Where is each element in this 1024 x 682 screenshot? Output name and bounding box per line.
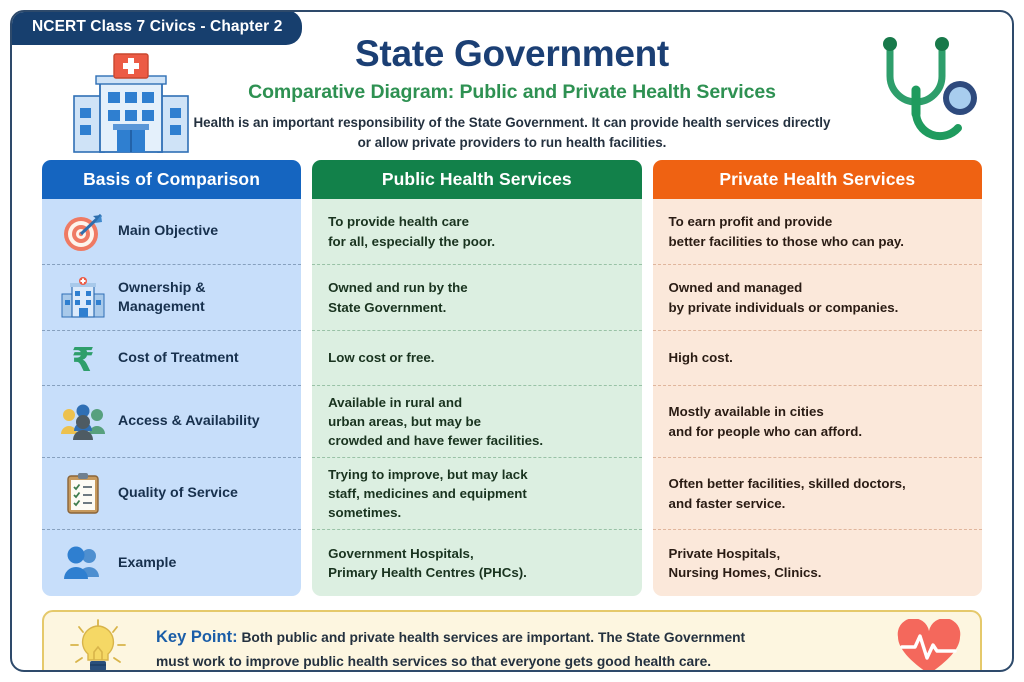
cell-line: Owned and run by the [328,278,468,297]
cell-line: and faster service. [669,494,906,513]
cell-line: Available in rural and [328,393,543,412]
hospital-building-icon [70,52,192,157]
cell-line: crowded and have fewer facilities. [328,431,543,450]
comparison-table: Basis of Comparison [42,160,982,596]
cell-line: urban areas, but may be [328,412,543,431]
table-row: Low cost or free. [312,331,641,386]
table-row: Ownership & Management [42,265,301,331]
cell-line: Private Hospitals, [669,544,822,563]
intro-line-1: Health is an important responsibility of… [152,113,872,133]
cell-line: Government Hospitals, [328,544,527,563]
target-icon [60,210,106,254]
key-point-text: Key Point: Both public and private healt… [148,624,882,672]
public-cell-text: To provide health care for all, especial… [328,212,495,251]
basis-label: Example [118,554,176,572]
poster: NCERT Class 7 Civics - Chapter 2 [0,0,1024,682]
cell-line: staff, medicines and equipment [328,484,528,503]
poster-frame: NCERT Class 7 Civics - Chapter 2 [10,10,1014,672]
table-row: Government Hospitals, Primary Health Cen… [312,530,641,596]
private-cell-text: Often better facilities, skilled doctors… [669,474,906,513]
public-cell-text: Trying to improve, but may lack staff, m… [328,465,528,523]
basis-label: Main Objective [118,222,218,240]
public-cell-text: Available in rural and urban areas, but … [328,393,543,451]
basis-label-line-2: Management [118,298,206,316]
cell-line: and for people who can afford. [669,422,863,441]
key-point-box: Key Point: Both public and private healt… [42,610,982,672]
key-point-line-1: Key Point: Both public and private healt… [156,624,882,651]
private-cell-text: Private Hospitals, Nursing Homes, Clinic… [669,544,822,583]
column-body-private: To earn profit and provide better facili… [653,199,982,596]
public-cell-text: Government Hospitals, Primary Health Cen… [328,544,527,583]
two-people-icon [60,541,106,585]
cell-line: better facilities to those who can pay. [669,232,904,251]
basis-label-line-1: Ownership & [118,279,206,297]
cell-line: Owned and managed [669,278,899,297]
heart-pulse-icon [896,619,962,672]
cell-line: Mostly available in cities [669,402,863,421]
cell-line: Often better facilities, skilled doctors… [669,474,906,493]
table-row: Mostly available in cities and for peopl… [653,386,982,458]
stethoscope-icon [868,30,978,150]
cell-line: To provide health care [328,212,495,231]
key-point-lead: Key Point: [156,628,238,646]
cell-line: High cost. [669,348,733,367]
table-row: Available in rural and urban areas, but … [312,386,641,458]
cell-line: Nursing Homes, Clinics. [669,563,822,582]
cell-line: To earn profit and provide [669,212,904,231]
column-basis: Basis of Comparison [42,160,301,596]
rupee-icon: ₹ [60,336,106,380]
public-cell-text: Low cost or free. [328,348,434,367]
cell-line: Primary Health Centres (PHCs). [328,563,527,582]
private-cell-text: Mostly available in cities and for peopl… [669,402,863,441]
table-row: To earn profit and provide better facili… [653,199,982,265]
intro-line-2: or allow private providers to run health… [152,133,872,153]
column-header-basis: Basis of Comparison [42,160,301,199]
private-cell-text: Owned and managed by private individuals… [669,278,899,317]
column-private: Private Health Services To earn profit a… [653,160,982,596]
column-header-public: Public Health Services [312,160,641,199]
basis-label: Access & Availability [118,412,260,430]
basis-label: Cost of Treatment [118,349,239,367]
table-row: Main Objective [42,199,301,265]
basis-label: Ownership & Management [118,279,206,316]
lightbulb-icon [62,618,134,672]
column-public: Public Health Services To provide health… [312,160,641,596]
table-row: Access & Availability [42,386,301,458]
public-cell-text: Owned and run by the State Government. [328,278,468,317]
cell-line: Low cost or free. [328,348,434,367]
basis-label: Quality of Service [118,484,238,502]
private-cell-text: High cost. [669,348,733,367]
column-body-basis: Main Objective [42,199,301,596]
private-cell-text: To earn profit and provide better facili… [669,212,904,251]
cell-line: State Government. [328,298,468,317]
hospital-icon [60,276,106,320]
column-body-public: To provide health care for all, especial… [312,199,641,596]
key-point-line-2: must work to improve public health servi… [156,651,882,672]
table-row: To provide health care for all, especial… [312,199,641,265]
table-row: Private Hospitals, Nursing Homes, Clinic… [653,530,982,596]
svg-text:₹: ₹ [72,340,95,379]
table-row: ₹ Cost of Treatment [42,331,301,386]
table-row: Owned and managed by private individuals… [653,265,982,331]
table-row: Quality of Service [42,458,301,530]
table-row: High cost. [653,331,982,386]
table-row: Often better facilities, skilled doctors… [653,458,982,530]
chapter-badge: NCERT Class 7 Civics - Chapter 2 [10,10,302,45]
cell-line: by private individuals or companies. [669,298,899,317]
key-point-body-1: Both public and private health services … [241,630,745,645]
table-row: Example [42,530,301,596]
cell-line: for all, especially the poor. [328,232,495,251]
clipboard-checklist-icon [60,472,106,516]
cell-line: sometimes. [328,503,528,522]
people-group-icon [60,400,106,444]
table-row: Owned and run by the State Government. [312,265,641,331]
table-row: Trying to improve, but may lack staff, m… [312,458,641,530]
cell-line: Trying to improve, but may lack [328,465,528,484]
column-header-private: Private Health Services [653,160,982,199]
